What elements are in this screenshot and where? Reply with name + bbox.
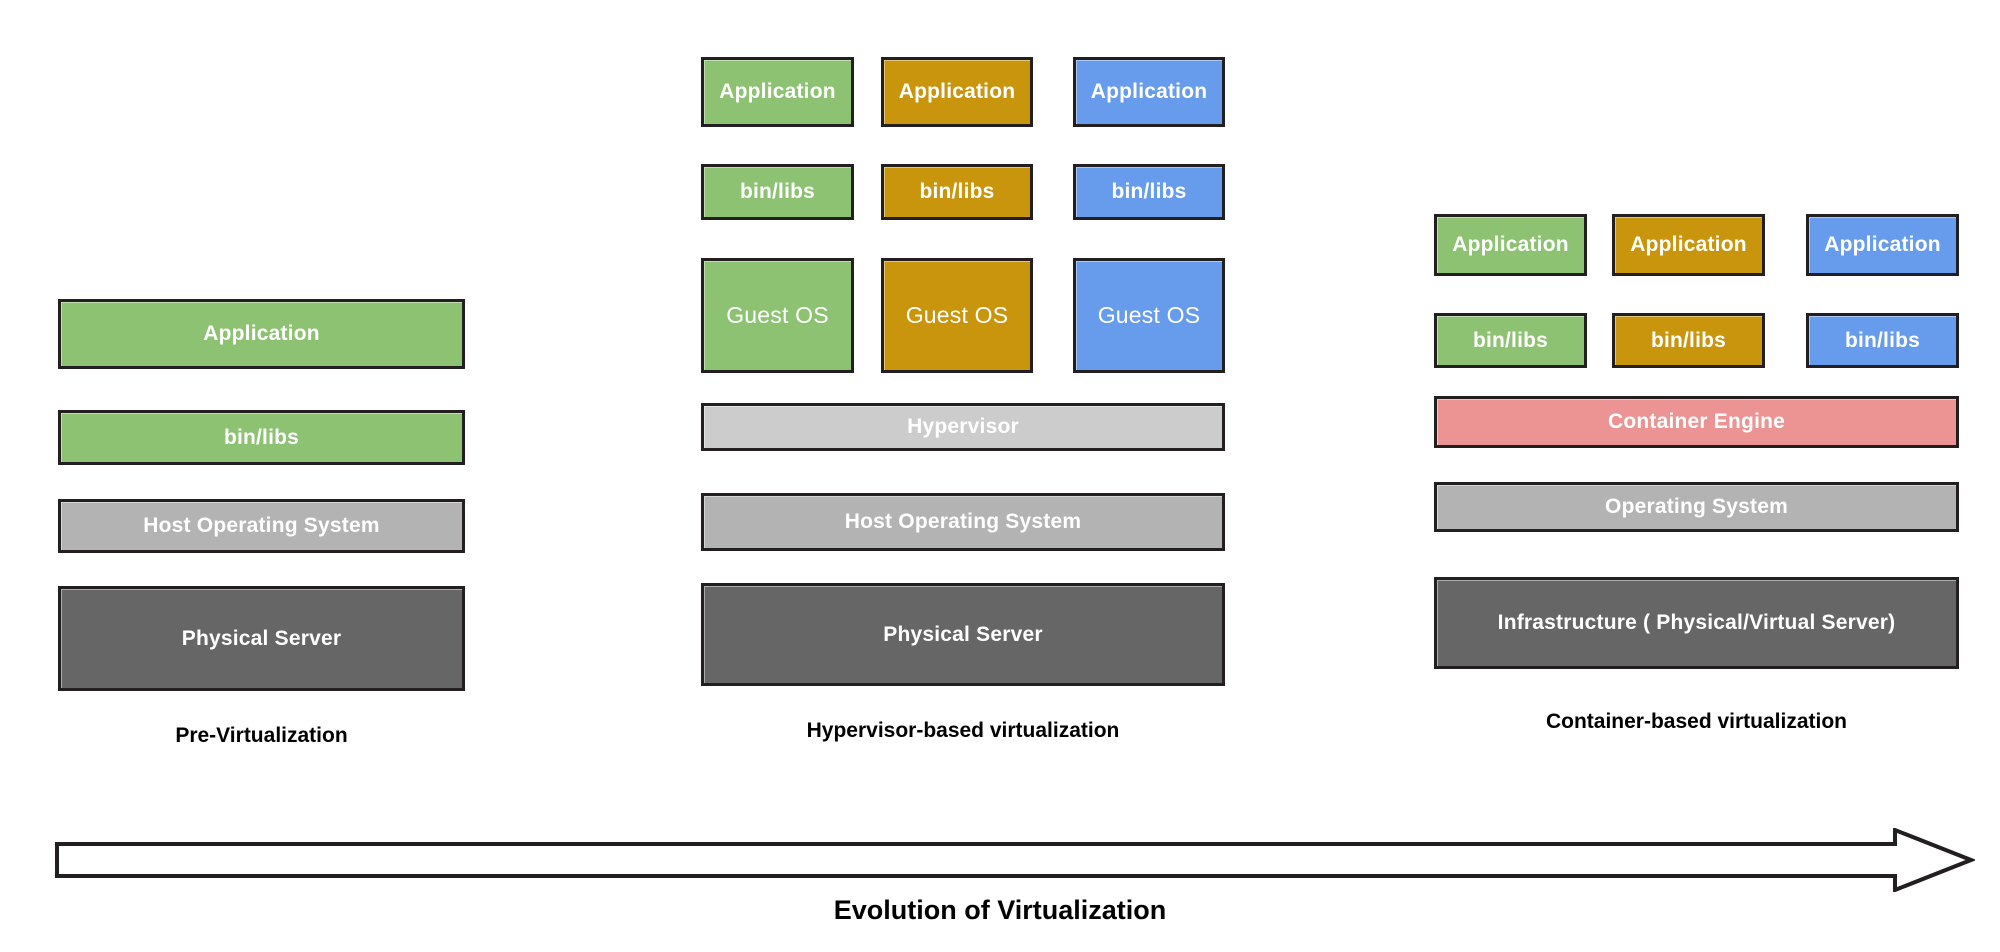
previrt-application-box: Application bbox=[58, 299, 465, 369]
hv-stack3-guest-os-box: Guest OS bbox=[1073, 258, 1225, 373]
previrt-physical-server-box: Physical Server bbox=[58, 586, 465, 691]
ct-stack2-binlibs-box: bin/libs bbox=[1612, 313, 1765, 368]
right-arrow-icon bbox=[55, 828, 1975, 892]
hv-stack1-binlibs-box: bin/libs bbox=[701, 164, 854, 220]
ct-stack1-application-box: Application bbox=[1434, 214, 1587, 276]
ct-stack2-application-box: Application bbox=[1612, 214, 1765, 276]
previrt-binlibs-box: bin/libs bbox=[58, 410, 465, 465]
container-caption: Container-based virtualization bbox=[1434, 710, 1959, 734]
ct-stack3-binlibs-box: bin/libs bbox=[1806, 313, 1959, 368]
hv-stack2-guest-os-box: Guest OS bbox=[881, 258, 1033, 373]
hv-stack2-application-box: Application bbox=[881, 57, 1033, 127]
ct-stack3-application-box: Application bbox=[1806, 214, 1959, 276]
evolution-caption: Evolution of Virtualization bbox=[0, 895, 2000, 926]
hv-physical-server-box: Physical Server bbox=[701, 583, 1225, 686]
ct-container-engine-box: Container Engine bbox=[1434, 396, 1959, 448]
previrt-caption: Pre-Virtualization bbox=[58, 724, 465, 748]
hv-stack1-guest-os-box: Guest OS bbox=[701, 258, 854, 373]
hv-host-os-box: Host Operating System bbox=[701, 493, 1225, 551]
hv-hypervisor-box: Hypervisor bbox=[701, 403, 1225, 451]
hv-stack3-application-box: Application bbox=[1073, 57, 1225, 127]
ct-operating-system-box: Operating System bbox=[1434, 482, 1959, 532]
diagram-canvas: Application bin/libs Host Operating Syst… bbox=[0, 0, 2000, 952]
ct-infrastructure-box: Infrastructure ( Physical/Virtual Server… bbox=[1434, 577, 1959, 669]
hv-stack1-application-box: Application bbox=[701, 57, 854, 127]
hv-stack3-binlibs-box: bin/libs bbox=[1073, 164, 1225, 220]
previrt-host-os-box: Host Operating System bbox=[58, 499, 465, 553]
hypervisor-caption: Hypervisor-based virtualization bbox=[701, 719, 1225, 743]
ct-stack1-binlibs-box: bin/libs bbox=[1434, 313, 1587, 368]
hv-stack2-binlibs-box: bin/libs bbox=[881, 164, 1033, 220]
